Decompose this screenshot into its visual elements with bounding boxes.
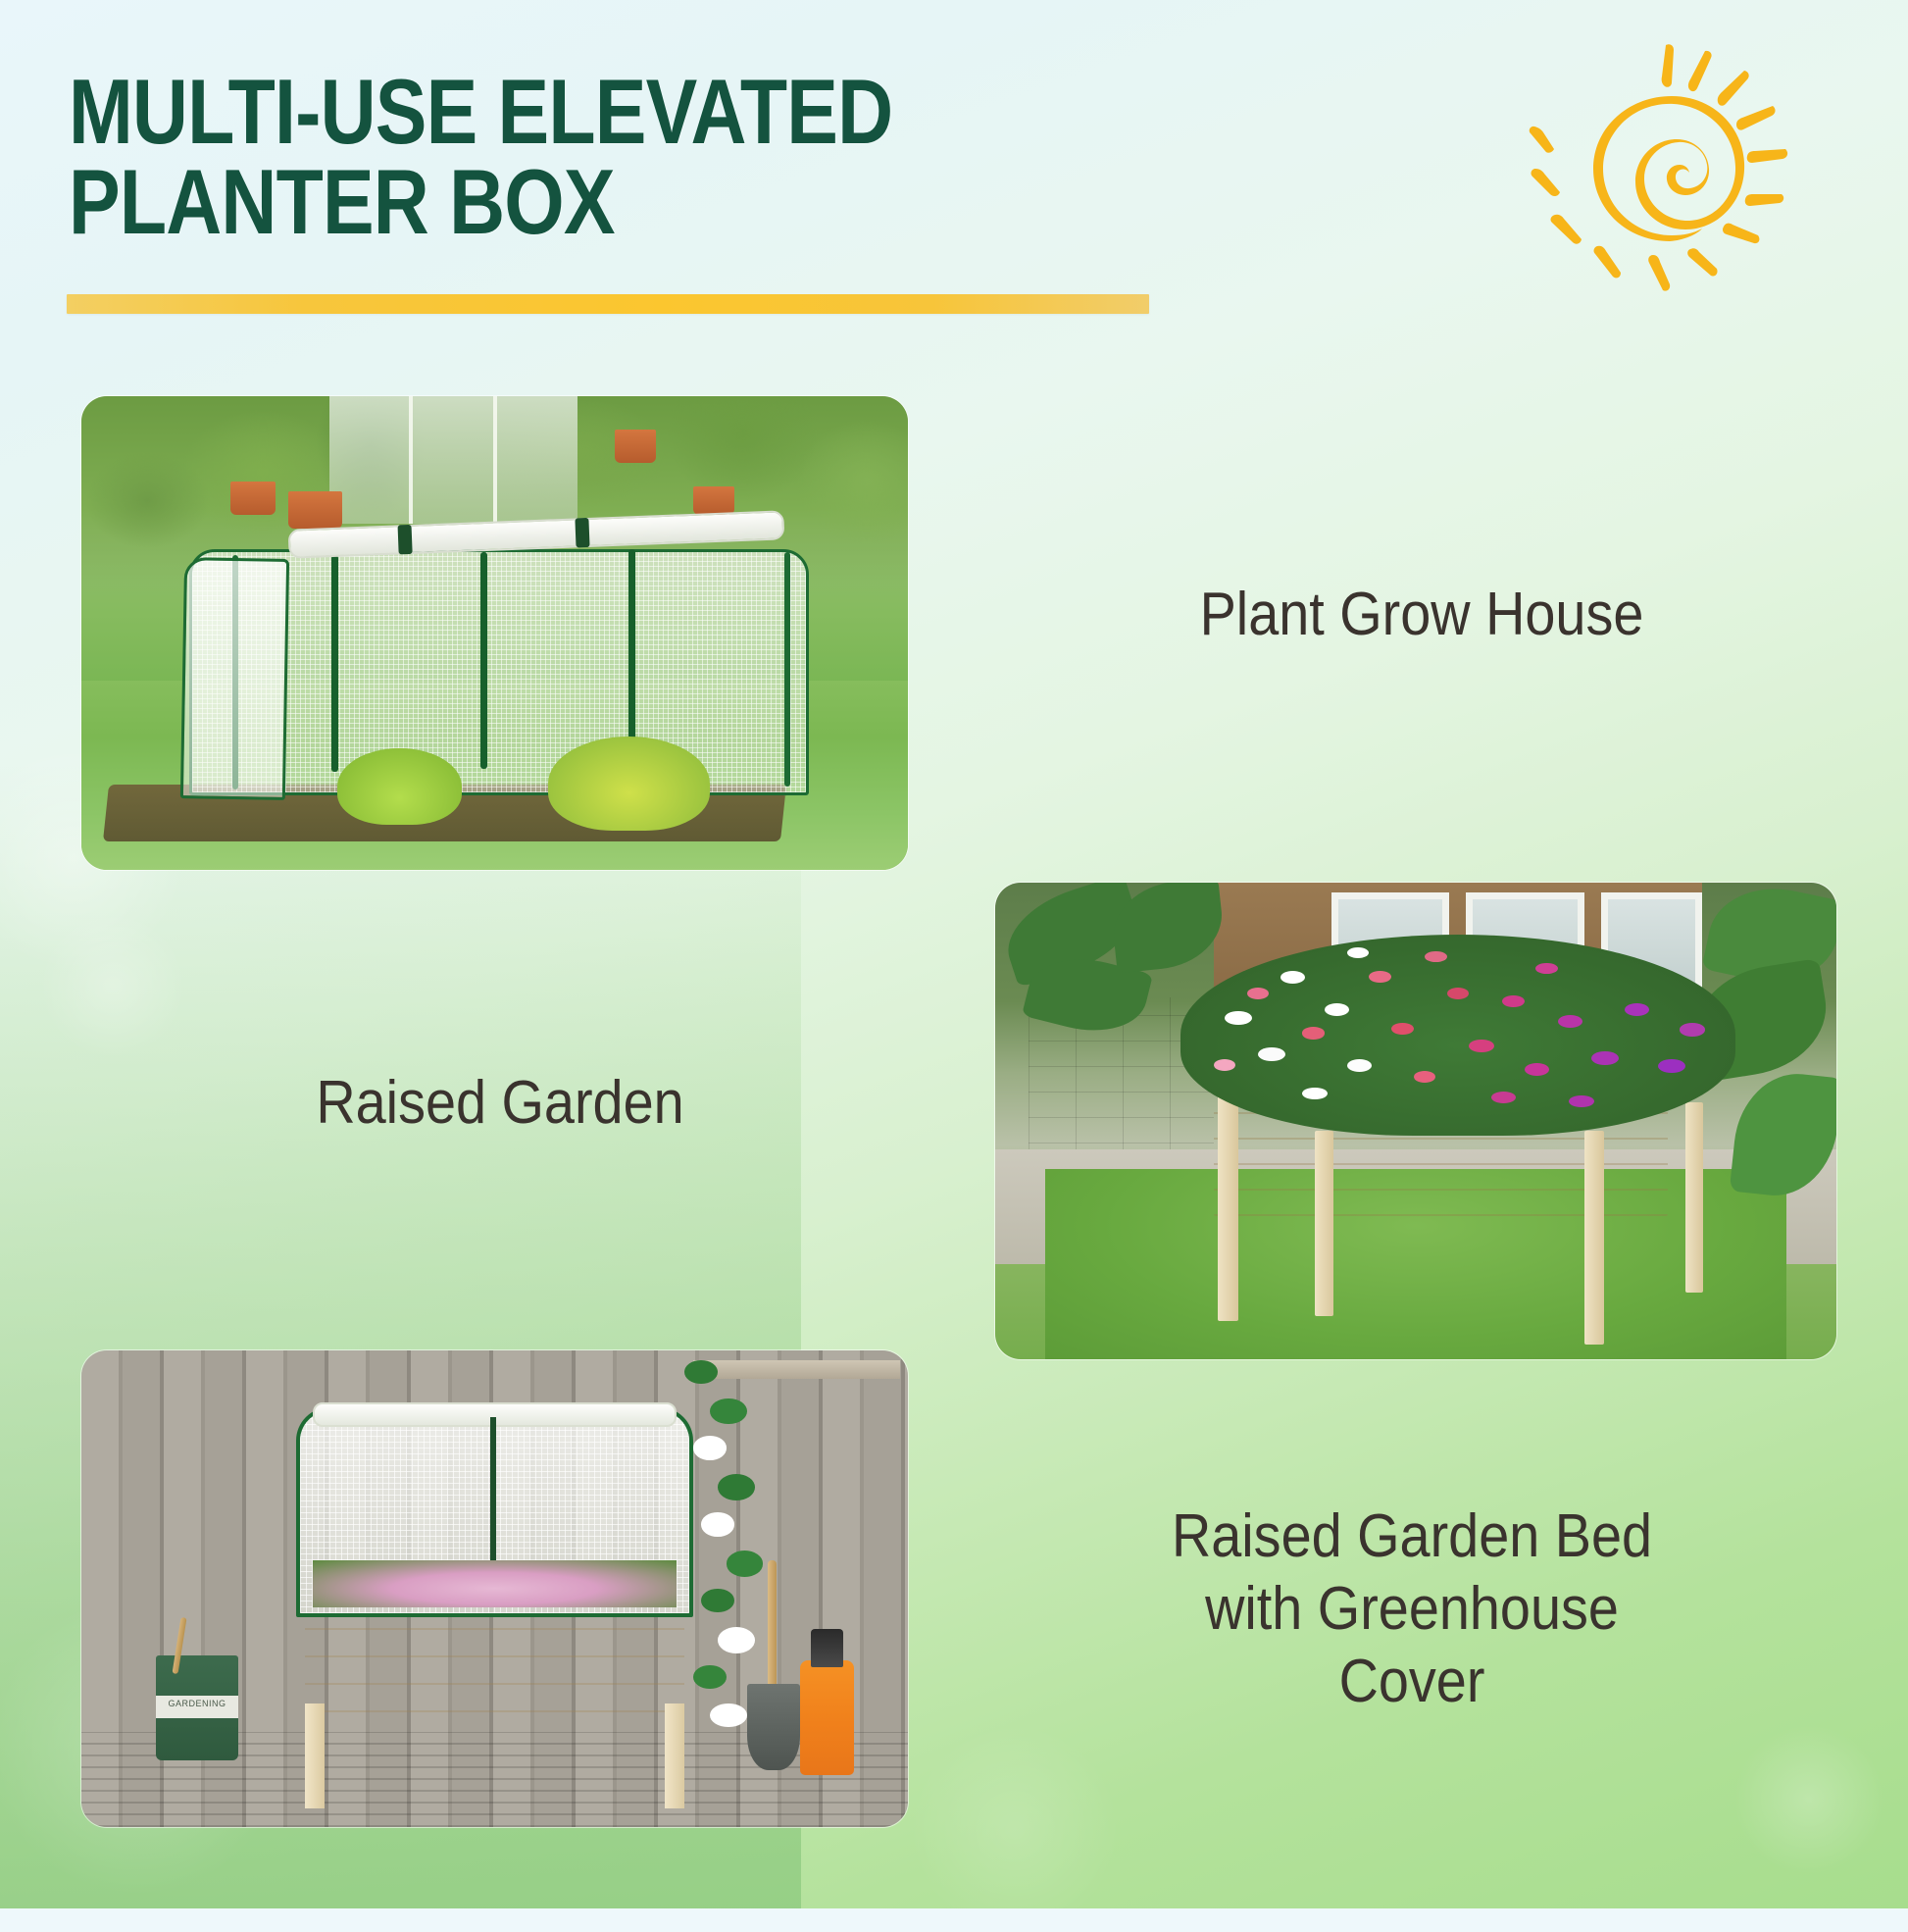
flower xyxy=(1247,988,1270,999)
title-underline-bar xyxy=(67,294,1149,314)
climbing-vine xyxy=(684,1360,718,1384)
bokeh-circle xyxy=(912,1726,1118,1932)
climbing-vine xyxy=(693,1665,727,1689)
terracotta-pot xyxy=(230,482,276,515)
flower xyxy=(1525,1063,1549,1076)
front-flap xyxy=(180,557,290,799)
header: MULTI-USE ELEVATED PLANTER BOX xyxy=(0,0,1908,333)
climbing-vine xyxy=(693,1436,727,1459)
flower xyxy=(1502,995,1525,1007)
flower xyxy=(1425,951,1447,962)
flower xyxy=(1347,947,1370,958)
bucket-label: GARDENING xyxy=(156,1696,238,1719)
flower xyxy=(1258,1047,1285,1061)
roll-clip xyxy=(398,524,413,553)
climbing-vine xyxy=(710,1703,747,1727)
flower xyxy=(1391,1023,1414,1035)
climbing-vine xyxy=(718,1627,755,1653)
planter-leg xyxy=(1584,1131,1605,1346)
caption-greenhouse-bed: Raised Garden Bed with Greenhouse Cover xyxy=(1024,1500,1800,1718)
zipper xyxy=(784,552,790,788)
bokeh-circle xyxy=(1735,1726,1883,1873)
flower-mass xyxy=(1180,935,1735,1135)
fence-shelf xyxy=(693,1360,900,1379)
planter-leg xyxy=(1685,1102,1704,1293)
caption-raised-garden: Raised Garden xyxy=(121,1067,879,1140)
flower xyxy=(1369,971,1391,983)
planter-leg xyxy=(1218,1093,1238,1321)
vegetable-plant xyxy=(337,748,461,825)
sun-icon xyxy=(1525,27,1809,302)
shovel-blade xyxy=(747,1684,801,1769)
flower xyxy=(1625,1003,1649,1016)
flower xyxy=(1591,1051,1619,1065)
climbing-vine xyxy=(701,1512,734,1536)
flower xyxy=(1558,1015,1582,1028)
planter-leg xyxy=(1315,1131,1333,1317)
terracotta-pot xyxy=(615,430,656,463)
caption-grow-house: Plant Grow House xyxy=(1042,579,1801,651)
roll-clip xyxy=(575,518,589,547)
climbing-vine xyxy=(710,1398,747,1425)
photo-raised-garden xyxy=(995,883,1836,1359)
title-line-2: PLANTER BOX xyxy=(69,157,1057,247)
flower xyxy=(1569,1095,1593,1107)
planter-leg xyxy=(665,1703,684,1808)
flower xyxy=(1214,1059,1236,1071)
flower xyxy=(1302,1027,1325,1039)
flower xyxy=(1325,1003,1349,1016)
frame-rib xyxy=(628,549,635,767)
photo-greenhouse-bed-content: GARDENING xyxy=(81,1350,908,1827)
title-line-1: MULTI-USE ELEVATED xyxy=(69,67,1057,157)
flower xyxy=(1680,1023,1704,1036)
gardening-bucket: GARDENING xyxy=(156,1655,238,1760)
photo-greenhouse-bed: GARDENING xyxy=(81,1350,908,1827)
pink-flowers xyxy=(313,1560,677,1608)
photo-grow-house xyxy=(81,396,908,870)
flower xyxy=(1414,1071,1436,1083)
flower xyxy=(1447,988,1470,999)
photo-grow-house-content xyxy=(81,396,908,870)
vegetable-plant xyxy=(548,737,709,831)
background-greenhouse xyxy=(329,396,577,524)
climbing-vine xyxy=(718,1474,755,1500)
flower xyxy=(1535,963,1558,974)
climbing-vine xyxy=(727,1551,764,1577)
flower xyxy=(1491,1092,1516,1103)
page-title: MULTI-USE ELEVATED PLANTER BOX xyxy=(69,67,1245,247)
flower xyxy=(1280,971,1305,984)
wooden-planter-box xyxy=(305,1607,685,1712)
frame-rib xyxy=(480,552,487,770)
flower xyxy=(1225,1011,1252,1025)
terracotta-pot xyxy=(693,486,734,515)
planter-leg xyxy=(305,1703,325,1808)
flower xyxy=(1347,1059,1372,1072)
frame-rib xyxy=(331,555,338,773)
tunnel-greenhouse xyxy=(189,520,809,813)
flower xyxy=(1302,1088,1327,1099)
sprayer-pump xyxy=(811,1629,844,1667)
flower xyxy=(1469,1040,1493,1052)
sprayer-bottle xyxy=(800,1660,854,1775)
photo-raised-garden-content xyxy=(995,883,1836,1359)
flower xyxy=(1658,1059,1685,1073)
